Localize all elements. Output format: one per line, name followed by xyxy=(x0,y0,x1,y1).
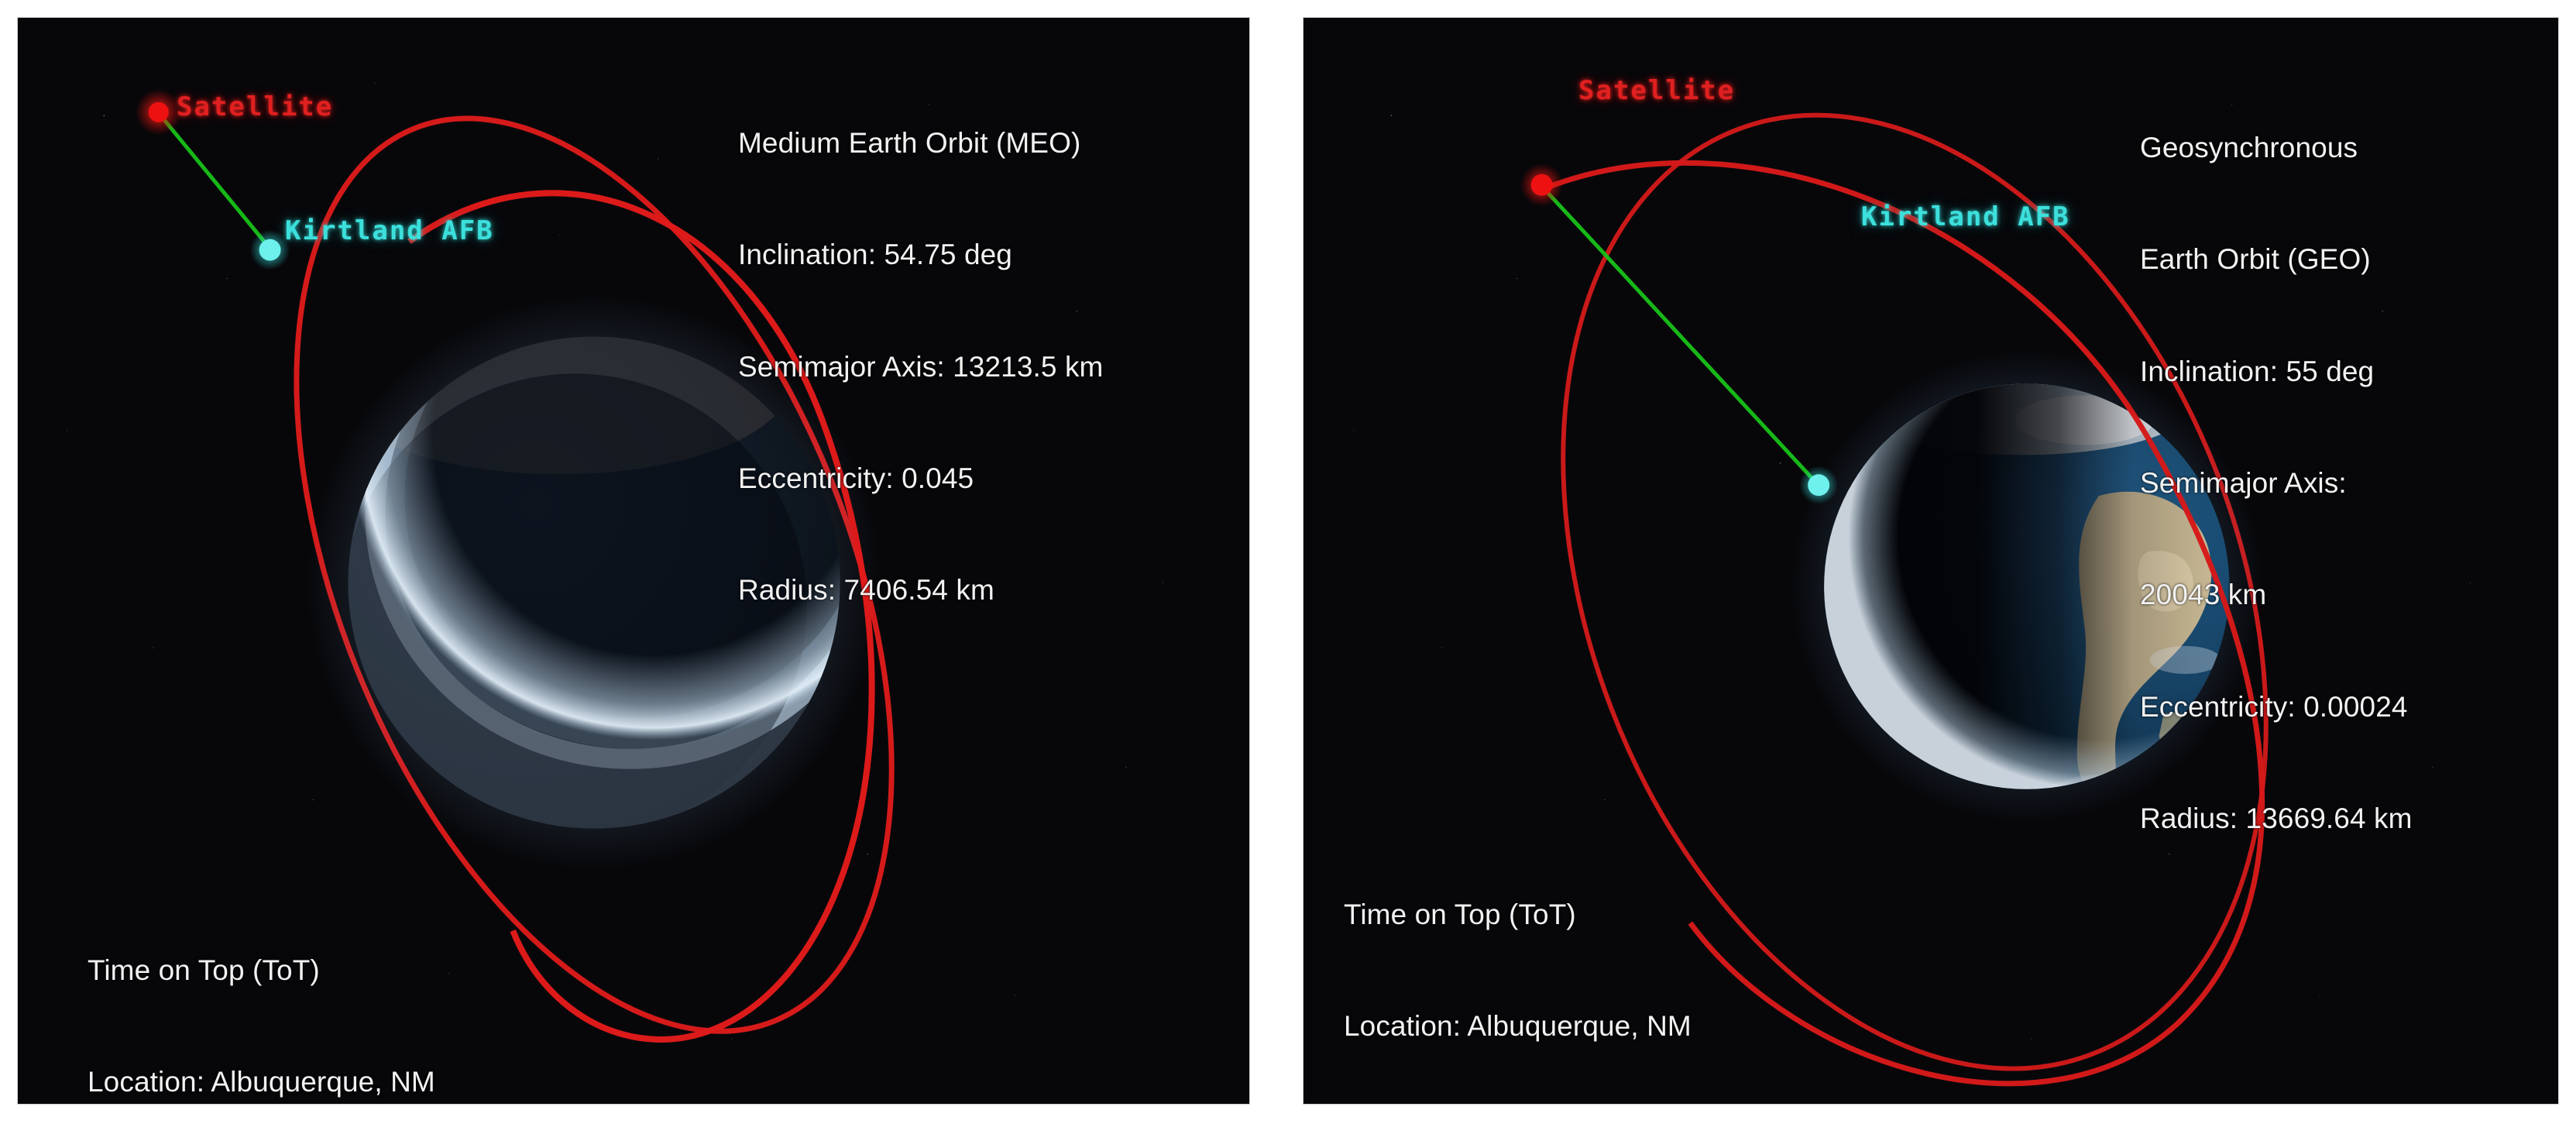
ground-site-marker-meo xyxy=(259,239,281,261)
satellite-label-meo: Satellite xyxy=(177,91,333,122)
orbit-title-line2-geo: Earth Orbit (GEO) xyxy=(2140,241,2413,278)
satellite-label-geo: Satellite xyxy=(1578,75,1735,106)
figure-root: Satellite Kirtland AFB Medium Earth Orbi… xyxy=(0,0,2576,1141)
line-of-sight-geo xyxy=(1545,190,1816,483)
tot-location-geo: Location: Albuquerque, NM xyxy=(1344,1008,1692,1045)
ground-site-label-geo: Kirtland AFB xyxy=(1861,201,2070,232)
satellite-marker-meo xyxy=(149,102,169,122)
tot-title-meo: Time on Top (ToT) xyxy=(88,952,479,989)
orbit-title-meo: Medium Earth Orbit (MEO) xyxy=(738,125,1103,162)
orbit-semimajor-axis-line2-geo: 20043 km xyxy=(2140,576,2413,613)
orbit-semimajor-axis-line1-geo: Semimajor Axis: xyxy=(2140,465,2413,502)
orbit-semimajor-axis-meo: Semimajor Axis: 13213.5 km xyxy=(738,349,1103,386)
orbit-radius-geo: Radius: 13669.64 km xyxy=(2140,800,2413,837)
tot-title-geo: Time on Top (ToT) xyxy=(1344,896,1692,933)
tot-location-meo: Location: Albuquerque, NM xyxy=(88,1064,479,1101)
orbit-eccentricity-meo: Eccentricity: 0.045 xyxy=(738,460,1103,497)
orbit-inclination-meo: Inclination: 54.75 deg xyxy=(738,236,1103,273)
line-of-sight-meo xyxy=(162,117,270,248)
orbit-eccentricity-geo: Eccentricity: 0.00024 xyxy=(2140,689,2413,726)
ground-site-label-meo: Kirtland AFB xyxy=(285,215,494,246)
time-on-top-geo: Time on Top (ToT) Location: Albuquerque,… xyxy=(1344,822,1692,1105)
satellite-marker-geo xyxy=(1531,174,1553,196)
orbit-parameters-geo: Geosynchronous Earth Orbit (GEO) Inclina… xyxy=(2140,55,2413,912)
orbit-panel-meo: Satellite Kirtland AFB Medium Earth Orbi… xyxy=(17,17,1250,1105)
orbit-parameters-meo: Medium Earth Orbit (MEO) Inclination: 54… xyxy=(738,50,1103,684)
ground-site-marker-geo xyxy=(1808,474,1829,496)
orbit-inclination-geo: Inclination: 55 deg xyxy=(2140,353,2413,390)
orbit-title-line1-geo: Geosynchronous xyxy=(2140,129,2413,167)
time-on-top-meo: Time on Top (ToT) Location: Albuquerque,… xyxy=(88,878,479,1105)
orbit-radius-meo: Radius: 7406.54 km xyxy=(738,572,1103,609)
orbit-panel-geo: Satellite Kirtland AFB Geosynchronous Ea… xyxy=(1303,17,2559,1105)
